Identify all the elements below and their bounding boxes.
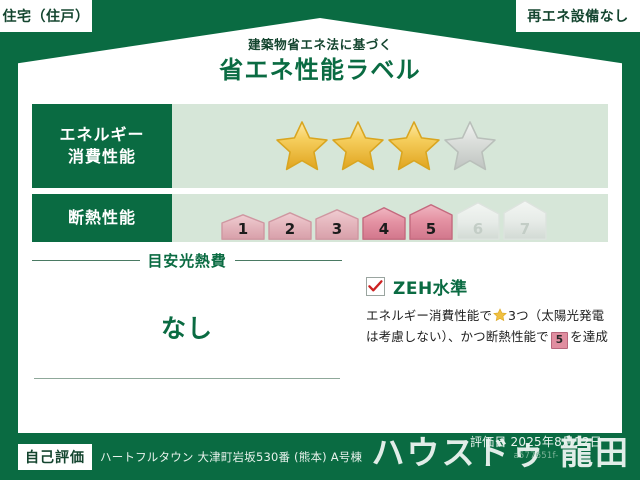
insulation-level-number: 2 [268, 222, 312, 237]
self-evaluation-badge: 自己評価 [18, 444, 92, 470]
utility-cost-divider [34, 378, 340, 379]
insulation-level-number: 7 [503, 222, 547, 237]
energy-performance-row: エネルギー 消費性能 [32, 104, 608, 188]
utility-cost-heading: 目安光熱費 [32, 250, 342, 271]
tag-renewable-energy: 再エネ設備なし [516, 0, 640, 32]
insulation-level-number: 4 [362, 222, 406, 237]
inline-level-badge: 5 [551, 332, 568, 349]
energy-label-line1: エネルギー [59, 124, 144, 146]
star-filled-icon [387, 119, 441, 173]
energy-label-line2: 消費性能 [68, 146, 136, 168]
insulation-level-3: 3 [315, 209, 359, 240]
star-rating [275, 119, 497, 173]
lower-section: 目安光熱費 なし ZEH水準 エネルギー消費性能で3つ（太陽光発電 は考慮しな [32, 250, 608, 426]
utility-cost-heading-text: 目安光熱費 [148, 250, 227, 271]
zeh-title: ZEH水準 [393, 274, 468, 299]
energy-performance-label: エネルギー 消費性能 [32, 104, 172, 188]
label-card: エネルギー 消費性能 断熱性能 1234567 目安光熱費 なし [18, 96, 622, 433]
star-empty-icon [443, 119, 497, 173]
zeh-desc-part3: を達成 [570, 329, 608, 344]
insulation-label-text: 断熱性能 [68, 207, 136, 229]
evaluation-date: 評価日 2025年8月12日 [470, 434, 602, 450]
zeh-desc-part2: は考慮しない）、かつ断熱性能で [366, 329, 549, 344]
property-name: ハートフルタウン 大津町岩坂530番 (熊本) A号棟 [100, 449, 362, 465]
utility-cost-value: なし [32, 309, 342, 345]
insulation-level-2: 2 [268, 212, 312, 240]
inline-star-icon [493, 308, 507, 327]
zeh-block: ZEH水準 エネルギー消費性能で3つ（太陽光発電 は考慮しない）、かつ断熱性能で… [352, 250, 608, 426]
insulation-level-7: 7 [503, 200, 547, 240]
insulation-level-number: 1 [221, 222, 265, 237]
insulation-performance-label: 断熱性能 [32, 194, 172, 242]
evaluation-meta: 評価日 2025年8月12日 a577651f- [470, 434, 602, 462]
insulation-level-4: 4 [362, 207, 406, 240]
tag-building-type: 住宅（住戸） [0, 0, 92, 32]
zeh-desc-part1: エネルギー消費性能で [366, 308, 492, 323]
zeh-heading: ZEH水準 [366, 274, 608, 299]
insulation-level-1: 1 [221, 214, 265, 240]
title-main: 省エネ性能ラベル [0, 55, 640, 85]
star-filled-icon [331, 119, 385, 173]
zeh-checkbox [366, 277, 385, 296]
utility-cost-block: 目安光熱費 なし [32, 250, 352, 426]
insulation-level-number: 5 [409, 222, 453, 237]
title-block: 建築物省エネ法に基づく 省エネ性能ラベル [0, 38, 640, 85]
evaluation-id: a577651f- [470, 451, 602, 462]
insulation-level-6: 6 [456, 202, 500, 240]
energy-label-root: 住宅（住戸） 再エネ設備なし 建築物省エネ法に基づく 省エネ性能ラベル エネルギ… [0, 0, 640, 480]
insulation-scale: 1234567 [221, 196, 547, 240]
insulation-performance-value: 1234567 [172, 194, 608, 242]
insulation-level-number: 6 [456, 222, 500, 237]
insulation-level-5: 5 [409, 204, 453, 240]
energy-performance-value [172, 104, 608, 188]
star-filled-icon [275, 119, 329, 173]
zeh-desc-stars: 3つ（太陽光発電 [508, 308, 604, 323]
zeh-description: エネルギー消費性能で3つ（太陽光発電 は考慮しない）、かつ断熱性能で5を達成 [366, 306, 608, 349]
insulation-level-number: 3 [315, 222, 359, 237]
insulation-performance-row: 断熱性能 1234567 [32, 194, 608, 242]
title-subtitle: 建築物省エネ法に基づく [0, 38, 640, 52]
